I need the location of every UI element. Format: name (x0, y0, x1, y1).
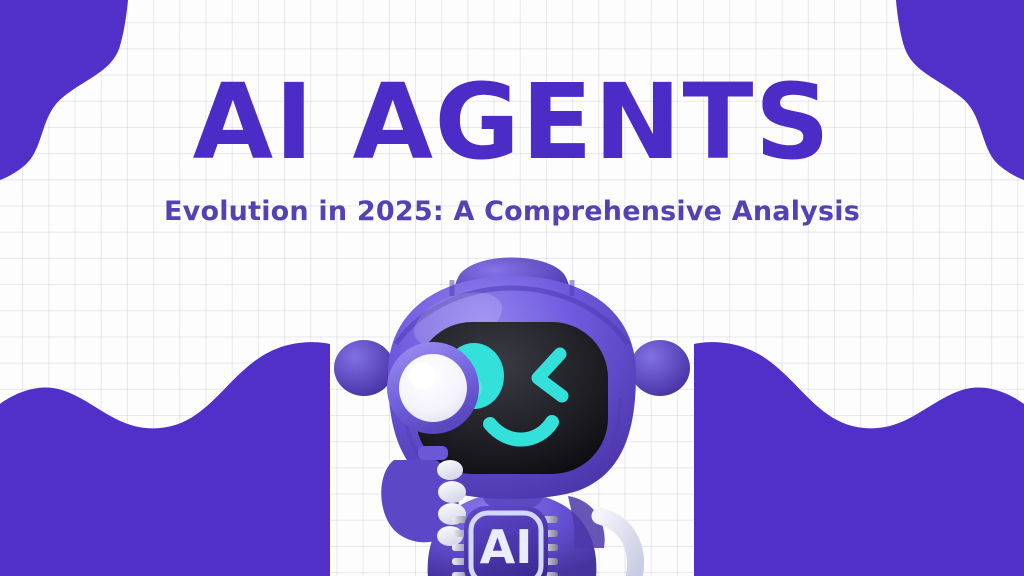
page-subtitle: Evolution in 2025: A Comprehensive Analy… (0, 196, 1024, 227)
page-title: AI AGENTS (0, 70, 1024, 174)
ai-chip-label: AI (480, 520, 533, 574)
title-slide: AI AGENTS Evolution in 2025: A Comprehen… (0, 0, 1024, 576)
finger-2 (438, 481, 466, 503)
robot-mascot: AI (332, 248, 692, 576)
ear-pod-left (334, 340, 394, 396)
magnifier-lens (399, 354, 467, 422)
ear-pod-right (630, 340, 690, 396)
ai-chip-badge: AI (452, 506, 558, 576)
finger-1 (437, 460, 463, 480)
robot-right-arm (600, 516, 636, 576)
